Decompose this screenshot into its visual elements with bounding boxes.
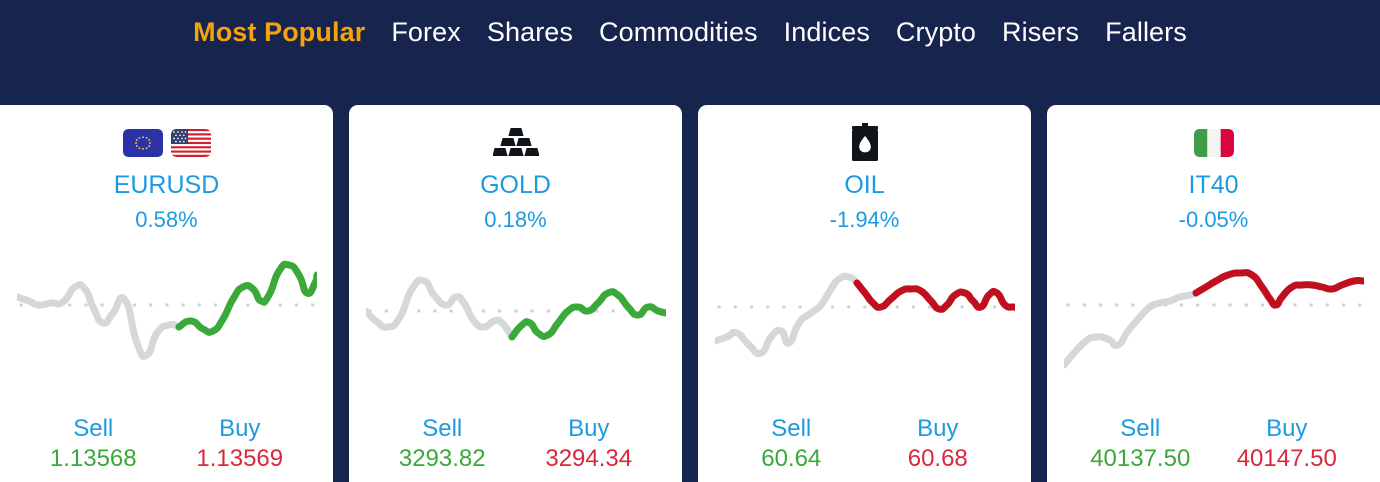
- instrument-icon-it40: [1194, 119, 1234, 167]
- instrument-icon-gold: [493, 119, 539, 167]
- flag-italy-icon: [1194, 129, 1234, 157]
- sell-price: 40137.50: [1090, 443, 1190, 474]
- buy-button[interactable]: Buy 1.13569: [196, 415, 283, 474]
- instrument-icon-eurusd: [123, 119, 211, 167]
- buy-label: Buy: [219, 415, 260, 443]
- quote-row: Sell 1.13568 Buy 1.13569: [0, 415, 333, 474]
- buy-label: Buy: [568, 415, 609, 443]
- instrument-change-percent: 0.58%: [135, 209, 197, 231]
- sell-label: Sell: [1120, 415, 1160, 443]
- buy-price: 40147.50: [1237, 443, 1337, 474]
- sparkline-chart-eurusd: [17, 245, 317, 395]
- instrument-card-it40[interactable]: IT40 -0.05% Sell 40137.50 Buy 40147.50: [1047, 105, 1380, 482]
- sell-label: Sell: [771, 415, 811, 443]
- sparkline-current-path: [1196, 273, 1364, 306]
- quote-row: Sell 60.64 Buy 60.68: [698, 415, 1031, 474]
- sparkline-svg: [366, 245, 666, 395]
- instrument-change-percent: 0.18%: [484, 209, 546, 231]
- quote-row: Sell 3293.82 Buy 3294.34: [349, 415, 682, 474]
- instrument-icon-oil: [850, 119, 880, 167]
- instrument-card-gold[interactable]: GOLD 0.18% Sell 3293.82 Buy 3294.34: [349, 105, 682, 482]
- sparkline-chart-gold: [366, 245, 666, 395]
- sell-button[interactable]: Sell 60.64: [761, 415, 821, 474]
- sell-button[interactable]: Sell 1.13568: [50, 415, 137, 474]
- sell-button[interactable]: Sell 40137.50: [1090, 415, 1190, 474]
- instrument-card-oil[interactable]: OIL -1.94% Sell 60.64 Buy 60.68: [698, 105, 1031, 482]
- nav-item-risers[interactable]: Risers: [1002, 19, 1079, 46]
- sparkline-svg: [1064, 245, 1364, 395]
- category-nav: Most Popular Forex Shares Commodities In…: [0, 0, 1380, 60]
- flag-us-icon: [171, 129, 211, 157]
- nav-item-crypto[interactable]: Crypto: [896, 19, 976, 46]
- sparkline-chart-it40: [1064, 245, 1364, 395]
- sparkline-history-path: [17, 284, 179, 356]
- sell-button[interactable]: Sell 3293.82: [399, 415, 486, 474]
- quote-row: Sell 40137.50 Buy 40147.50: [1047, 415, 1380, 474]
- market-watch-panel: Most Popular Forex Shares Commodities In…: [0, 0, 1380, 482]
- buy-price: 1.13569: [196, 443, 283, 474]
- nav-item-indices[interactable]: Indices: [784, 19, 870, 46]
- nav-item-forex[interactable]: Forex: [391, 19, 461, 46]
- nav-item-fallers[interactable]: Fallers: [1105, 19, 1187, 46]
- sparkline-current-path: [179, 264, 317, 332]
- instrument-card-eurusd[interactable]: EURUSD 0.58% Sell 1.13568 Buy 1.13569: [0, 105, 333, 482]
- oil-barrel-icon: [850, 123, 880, 163]
- sparkline-chart-oil: [715, 245, 1015, 395]
- buy-price: 60.68: [908, 443, 968, 474]
- gold-bars-icon: [493, 126, 539, 160]
- buy-button[interactable]: Buy 3294.34: [545, 415, 632, 474]
- instrument-symbol: OIL: [844, 173, 884, 198]
- instrument-symbol: IT40: [1188, 173, 1238, 198]
- sparkline-current-path: [512, 292, 666, 337]
- instrument-change-percent: -0.05%: [1179, 209, 1249, 231]
- instrument-change-percent: -1.94%: [830, 209, 900, 231]
- buy-label: Buy: [1266, 415, 1307, 443]
- sell-label: Sell: [73, 415, 113, 443]
- sell-price: 3293.82: [399, 443, 486, 474]
- sparkline-current-path: [857, 283, 1015, 309]
- sparkline-history-path: [715, 276, 857, 353]
- instrument-symbol: EURUSD: [114, 173, 220, 198]
- sparkline-history-path: [366, 280, 512, 337]
- buy-button[interactable]: Buy 40147.50: [1237, 415, 1337, 474]
- sell-price: 60.64: [761, 443, 821, 474]
- sparkline-svg: [17, 245, 317, 395]
- instrument-symbol: GOLD: [480, 173, 551, 198]
- flag-eu-icon: [123, 129, 163, 157]
- sell-price: 1.13568: [50, 443, 137, 474]
- instrument-card-list: EURUSD 0.58% Sell 1.13568 Buy 1.13569: [0, 105, 1380, 482]
- nav-item-most-popular[interactable]: Most Popular: [193, 19, 365, 46]
- buy-price: 3294.34: [545, 443, 632, 474]
- buy-label: Buy: [917, 415, 958, 443]
- sell-label: Sell: [422, 415, 462, 443]
- sparkline-svg: [715, 245, 1015, 395]
- nav-item-commodities[interactable]: Commodities: [599, 19, 758, 46]
- nav-item-shares[interactable]: Shares: [487, 19, 573, 46]
- buy-button[interactable]: Buy 60.68: [908, 415, 968, 474]
